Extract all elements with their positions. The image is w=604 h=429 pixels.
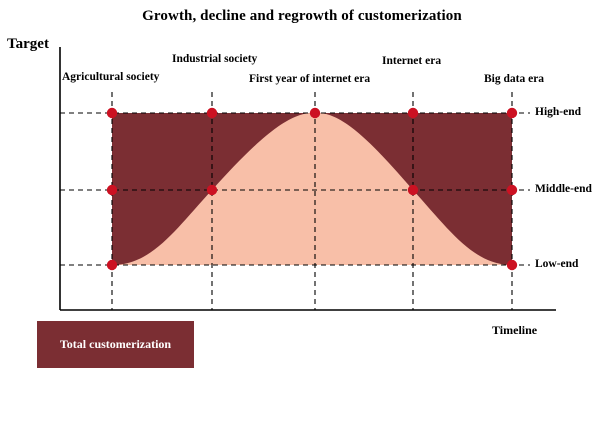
data-marker (408, 185, 418, 195)
y-axis-label: Target (7, 37, 49, 52)
data-marker (507, 185, 517, 195)
data-marker (207, 108, 217, 118)
level-label-middle-end: Middle-end (535, 184, 592, 196)
legend-label-total-customerization: Total customerization (37, 321, 194, 368)
level-label-low-end: Low-end (535, 259, 578, 271)
chart-container: Growth, decline and regrowth of customer… (0, 0, 604, 429)
data-marker (408, 108, 418, 118)
legend-swatch-total-customerization: Total customerization (37, 321, 194, 368)
era-label-first-year-of-internet-era: First year of internet era (249, 74, 370, 86)
era-label-big-data-era: Big data era (484, 74, 544, 86)
era-label-internet-era: Internet era (382, 56, 441, 68)
era-label-industrial-society: Industrial society (172, 54, 257, 66)
data-marker (107, 185, 117, 195)
data-marker (207, 185, 217, 195)
chart-title: Growth, decline and regrowth of customer… (0, 9, 604, 24)
data-marker (107, 260, 117, 270)
data-marker (107, 108, 117, 118)
data-marker (310, 108, 320, 118)
x-axis-label: Timeline (492, 324, 537, 336)
data-marker (507, 260, 517, 270)
level-label-high-end: High-end (535, 107, 581, 119)
era-label-agricultural-society: Agricultural society (62, 72, 159, 84)
data-marker (507, 108, 517, 118)
